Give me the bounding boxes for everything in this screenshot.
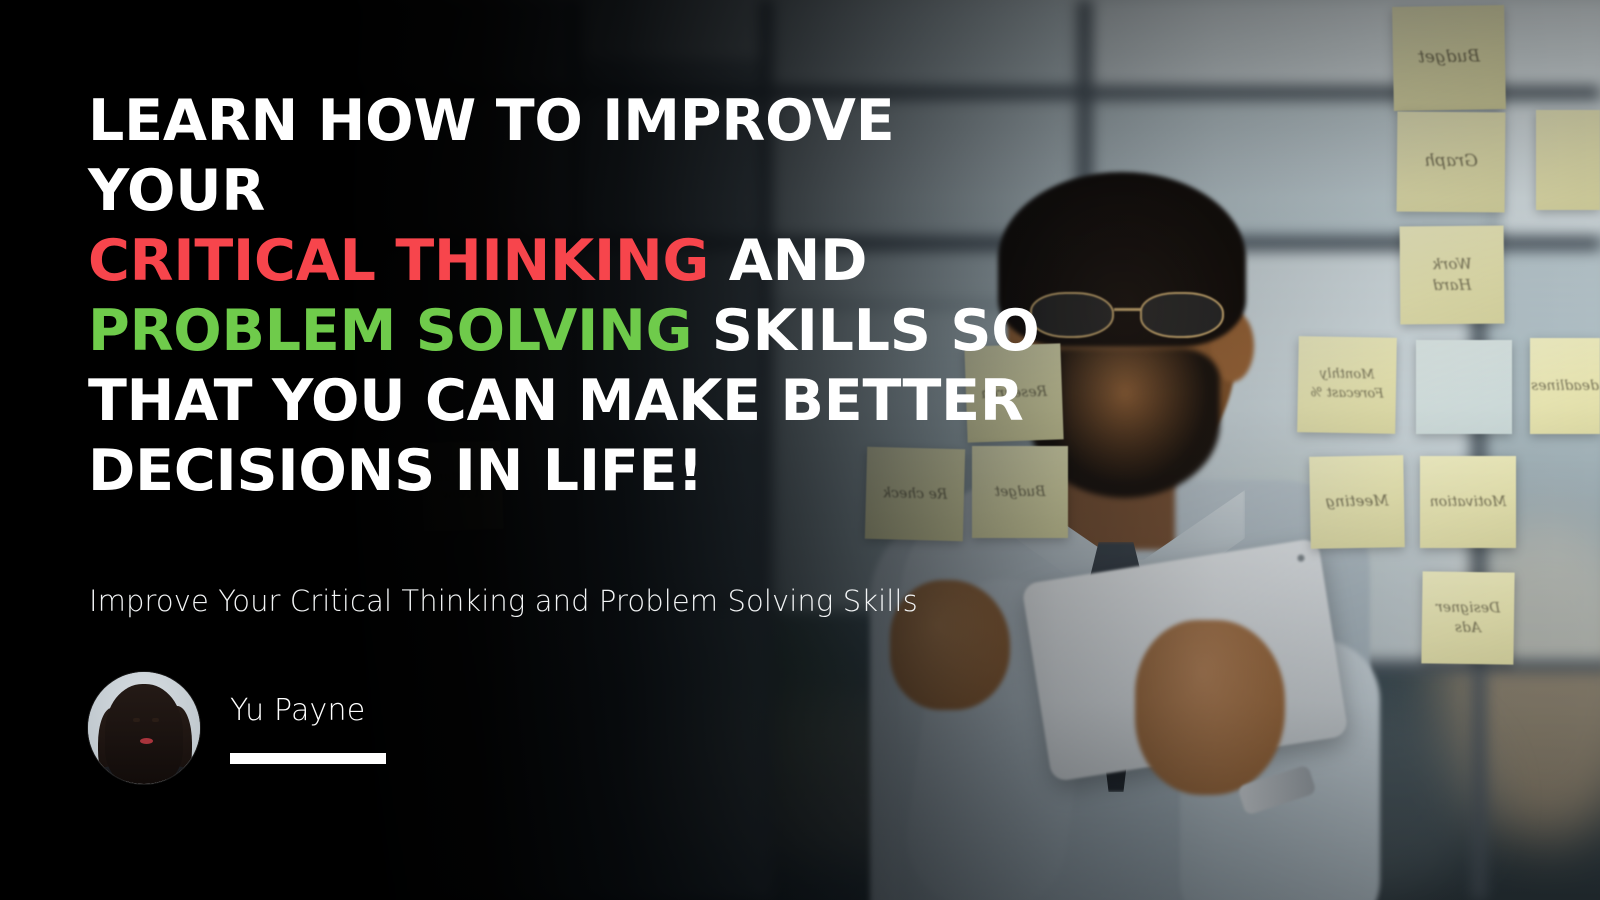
avatar-hair-top	[105, 684, 183, 784]
author-underline-rule	[230, 753, 386, 764]
subtitle: Improve Your Critical Thinking and Probl…	[89, 583, 918, 619]
author-block: Yu Payne	[88, 672, 386, 784]
avatar	[88, 672, 200, 784]
headline-highlight-critical-thinking: CRITICAL THINKING	[88, 228, 709, 294]
headline-line-2-rest: AND	[709, 228, 867, 294]
page-title: LEARN HOW TO IMPROVE YOUR CRITICAL THINK…	[88, 86, 1078, 506]
headline-line-4: THAT YOU CAN MAKE BETTER	[88, 368, 1024, 434]
author-name: Yu Payne	[230, 693, 386, 729]
headline-line-3-rest: SKILLS SO	[692, 298, 1039, 364]
avatar-eye-right	[152, 718, 159, 722]
avatar-lips	[140, 738, 153, 744]
headline-line-1: LEARN HOW TO IMPROVE YOUR	[88, 88, 894, 224]
headline-line-5: DECISIONS IN LIFE!	[88, 438, 703, 504]
headline-highlight-problem-solving: PROBLEM SOLVING	[88, 298, 692, 364]
author-details: Yu Payne	[230, 693, 386, 764]
banner-content: LEARN HOW TO IMPROVE YOUR CRITICAL THINK…	[88, 0, 1108, 900]
hero-banner: Budget Graph Work Hard Monthly Forecast …	[0, 0, 1600, 900]
avatar-eye-left	[133, 718, 140, 722]
